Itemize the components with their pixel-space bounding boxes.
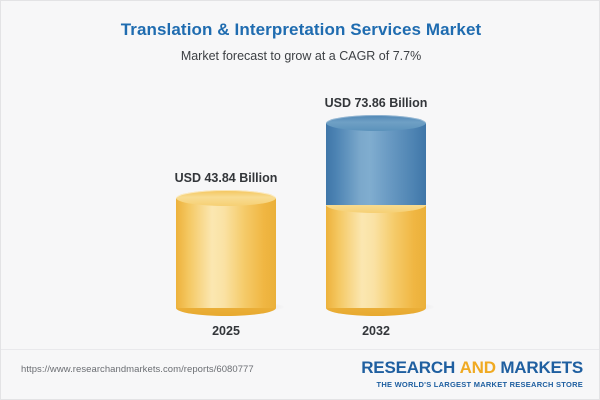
chart-card: Translation & Interpretation Services Ma… — [0, 0, 600, 400]
cylinder-body-2032-growth — [326, 123, 426, 205]
category-label-2025: 2025 — [156, 323, 296, 339]
cylinder-top-ellipse-2032 — [326, 115, 426, 131]
cylinder-body-2025 — [176, 198, 276, 308]
chart-plot-area: USD 43.84 Billion 2025 USD 73.86 Billion — [1, 1, 600, 349]
brand-logo-word-markets: MARKETS — [500, 358, 583, 377]
bar-segment-2032-growth[interactable] — [326, 123, 426, 205]
brand-logo-word-and: AND — [460, 358, 496, 377]
bar-segment-2025-base[interactable] — [176, 198, 276, 308]
chart-footer: https://www.researchandmarkets.com/repor… — [1, 350, 600, 400]
bar-segment-2032-base[interactable] — [326, 205, 426, 308]
brand-logo-tagline: THE WORLD'S LARGEST MARKET RESEARCH STOR… — [361, 380, 583, 389]
cylinder-body-2032-base — [326, 205, 426, 308]
bar-value-label-2025: USD 43.84 Billion — [156, 170, 296, 186]
source-url-link[interactable]: https://www.researchandmarkets.com/repor… — [21, 364, 254, 375]
cylinder-2032[interactable] — [326, 123, 426, 308]
bar-value-label-2032: USD 73.86 Billion — [306, 95, 446, 111]
brand-logo[interactable]: RESEARCH AND MARKETS THE WORLD'S LARGEST… — [361, 358, 583, 389]
category-label-2032: 2032 — [306, 323, 446, 339]
cylinder-top-ellipse-2025 — [176, 190, 276, 206]
brand-logo-wordmark: RESEARCH AND MARKETS — [361, 358, 583, 378]
brand-logo-word-research: RESEARCH — [361, 358, 455, 377]
cylinder-2025[interactable] — [176, 198, 276, 308]
